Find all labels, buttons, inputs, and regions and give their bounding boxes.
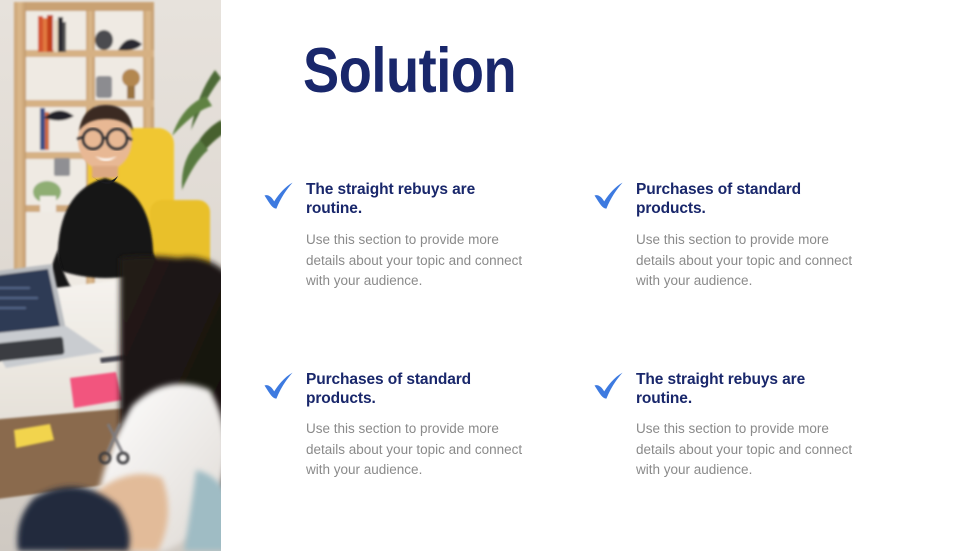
check-mark-icon [262,182,296,212]
feature-body: Use this section to provide more details… [306,419,538,481]
feature-body: Use this section to provide more details… [636,419,868,481]
feature-body: Use this section to provide more details… [636,230,868,292]
feature-title: The straight rebuys are routine. [636,370,861,408]
check-mark-icon [262,372,296,402]
office-meeting-photo [0,0,221,551]
page-title: Solution [303,37,516,105]
check-mark-icon [592,182,626,212]
check-mark-icon [592,372,626,402]
feature-item-1: The straight rebuys are routine. Use thi… [262,180,592,370]
feature-item-3: Purchases of standard products. Use this… [262,370,592,481]
feature-body: Use this section to provide more details… [306,230,538,292]
presentation-slide: Solution The straight rebuys are routine… [0,0,980,551]
feature-item-2: Purchases of standard products. Use this… [592,180,922,370]
feature-title: The straight rebuys are routine. [306,180,531,218]
feature-item-4: The straight rebuys are routine. Use thi… [592,370,922,481]
feature-title: Purchases of standard products. [636,180,861,218]
feature-title: Purchases of standard products. [306,370,531,408]
feature-grid: The straight rebuys are routine. Use thi… [262,180,922,481]
